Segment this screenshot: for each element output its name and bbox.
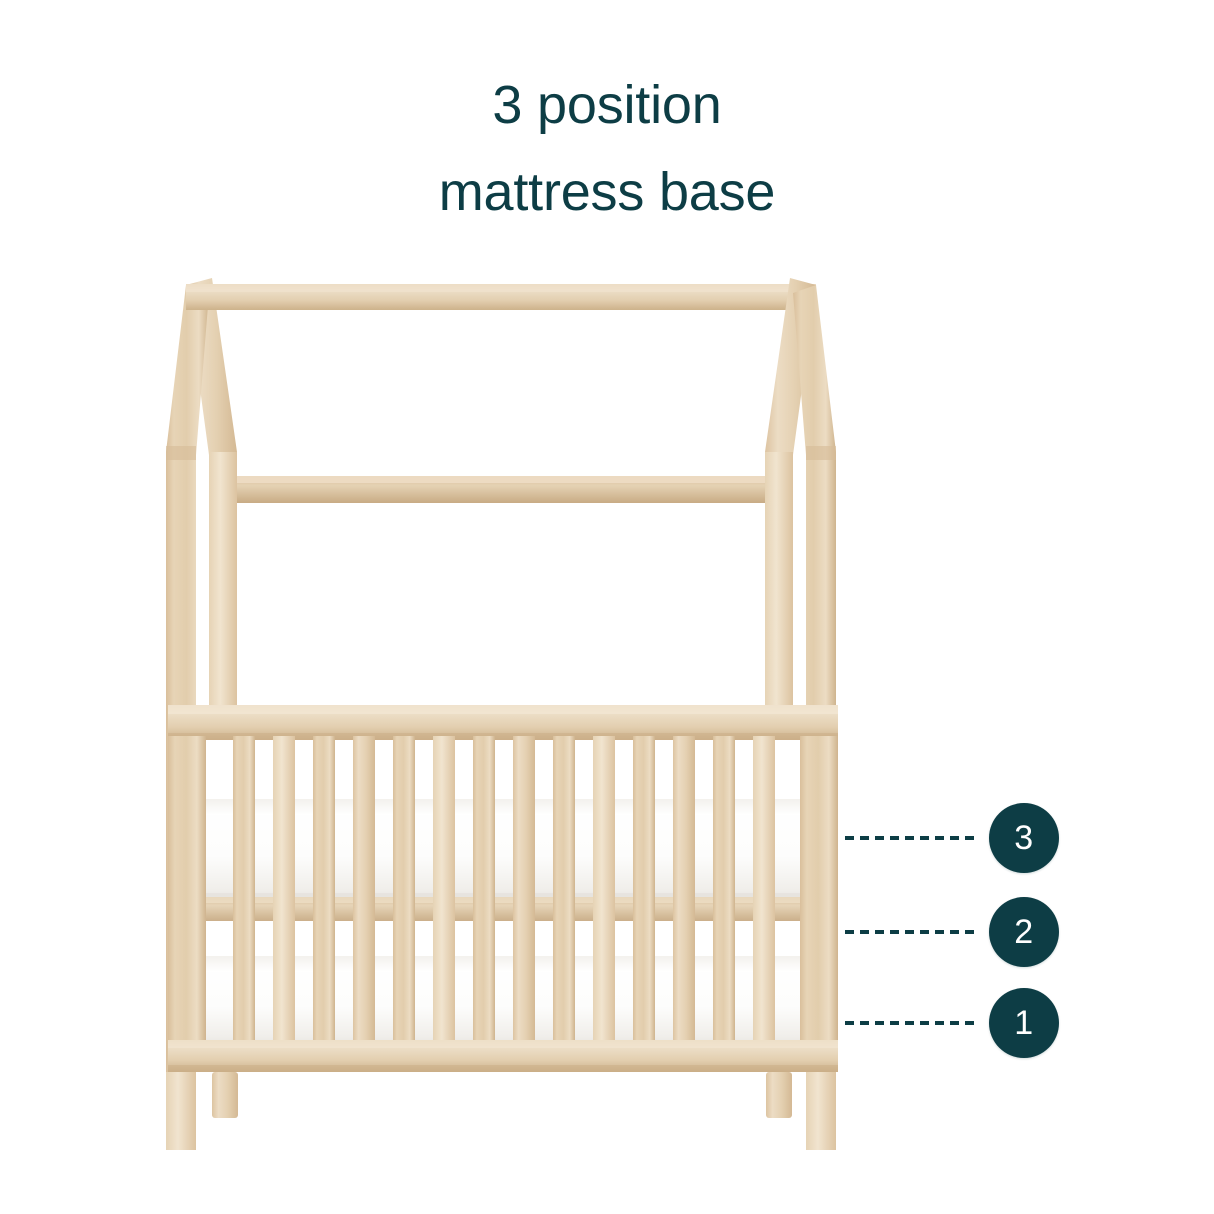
badge-position-3[interactable]: 3 [989,803,1059,873]
cot-bottom-rail [168,1040,838,1072]
callout-position-1: 1 [845,988,1059,1058]
product-feature-graphic: 3 position mattress base [0,0,1214,1214]
cot-top-rail [168,705,838,740]
leader-line-3-icon [845,836,977,840]
callout-position-2: 2 [845,897,1059,967]
leader-line-2-icon [845,930,977,934]
cot-legs [166,1072,836,1150]
badge-position-2[interactable]: 2 [989,897,1059,967]
badge-position-1[interactable]: 1 [989,988,1059,1058]
callout-position-3: 3 [845,803,1059,873]
leader-line-1-icon [845,1021,977,1025]
canopy-cross-rail [232,476,772,503]
